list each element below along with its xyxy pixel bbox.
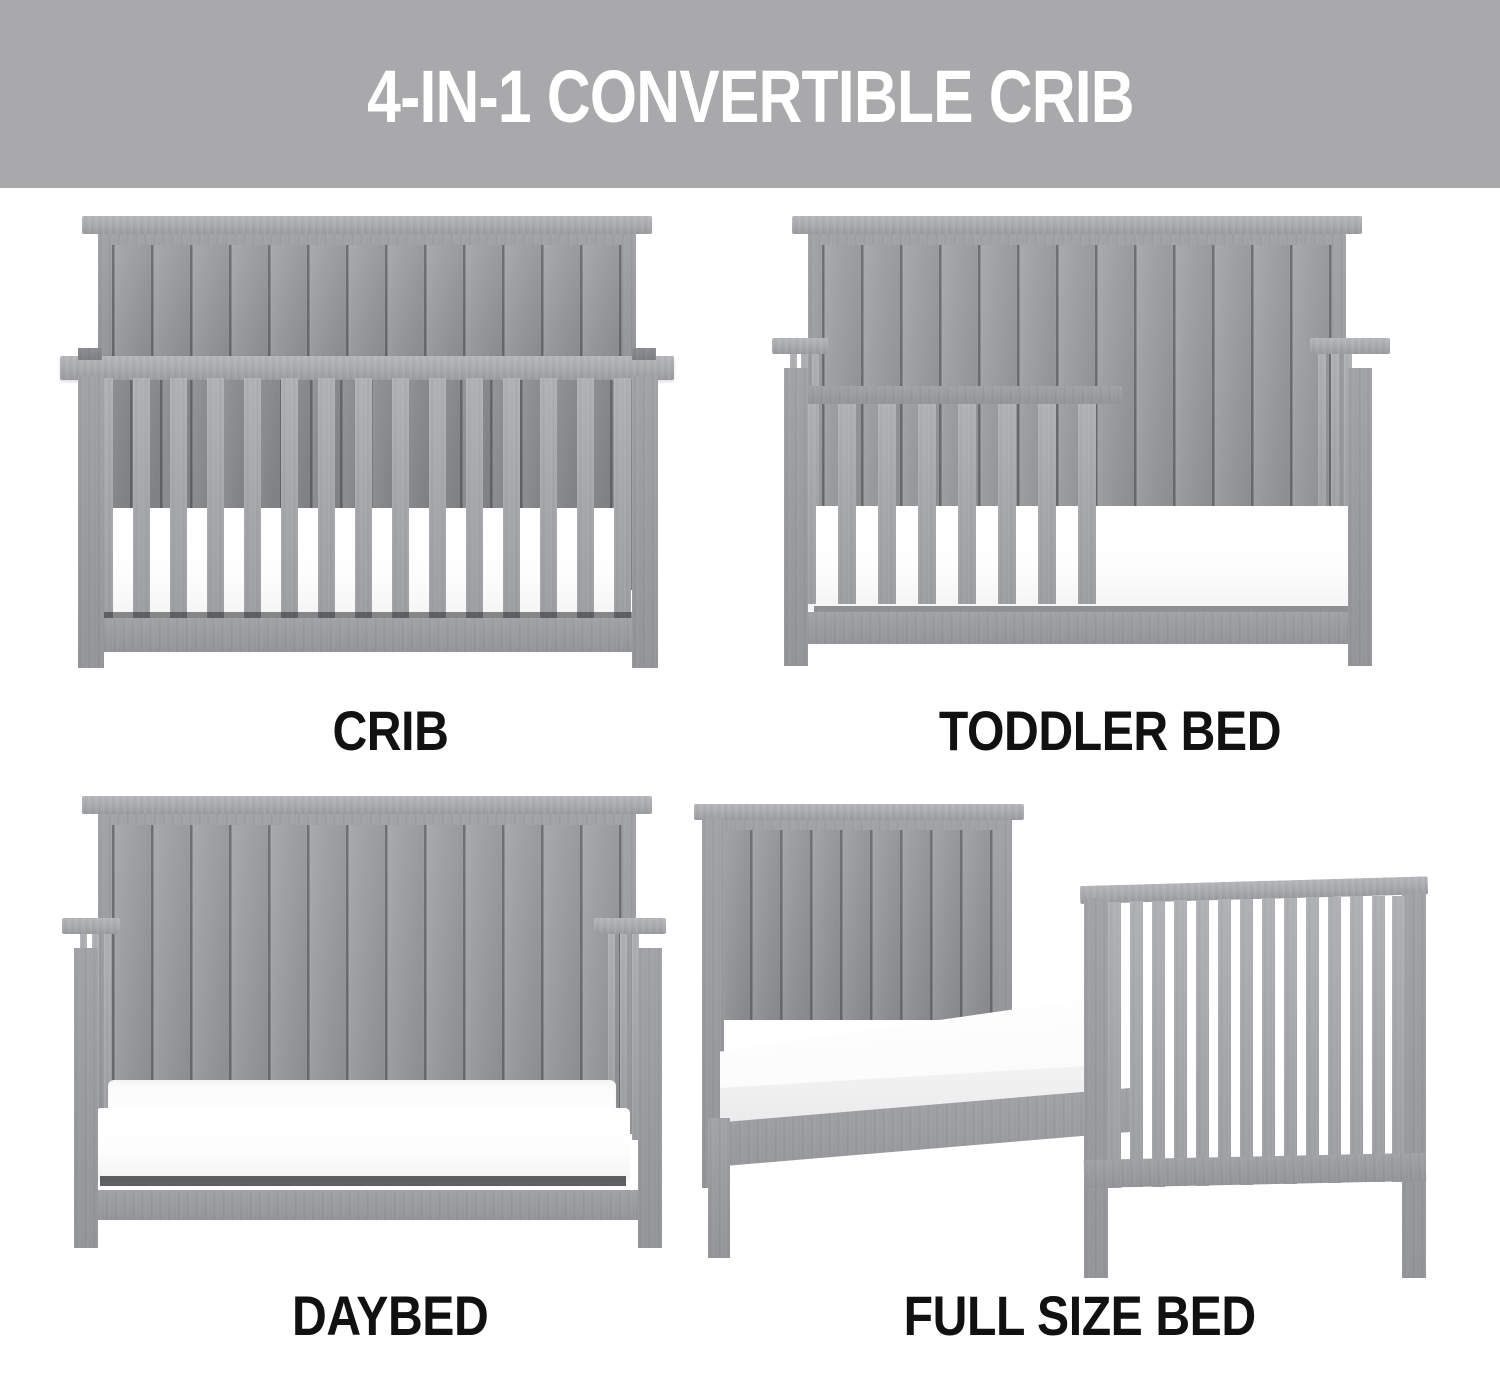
config-card-full-size-bed[interactable]: FULL SIZE BED — [680, 788, 1480, 1368]
caption-full-size-bed: FULL SIZE BED — [680, 1283, 1480, 1348]
toddler-left-arm-rail — [772, 338, 828, 354]
fullbed-footboard-slats — [1108, 896, 1406, 1188]
daybed-left-arm-rail — [62, 918, 120, 934]
fullbed-headboard-cap-rail — [694, 804, 1024, 820]
fullbed-footboard-post-left — [1084, 898, 1108, 1278]
toddler-guard-rail-slats — [798, 404, 1120, 604]
crib-top-cap-rail — [82, 216, 652, 234]
toddler-leg-right — [1348, 368, 1372, 666]
caption-toddler-bed: TODDLER BED — [770, 698, 1450, 763]
daybed-right-arm-rail — [594, 918, 666, 934]
crib-leg-left — [78, 376, 104, 668]
toddler-base-rail — [796, 612, 1360, 644]
full-size-bed-illustration — [680, 788, 1480, 1368]
fullbed-headboard-panel — [720, 830, 998, 1020]
daybed-top-cap-rail — [82, 796, 652, 814]
daybed-mattress — [96, 1108, 630, 1180]
config-card-toddler-bed[interactable]: TODDLER BED — [770, 208, 1450, 788]
page-title: 4-IN-1 CONVERTIBLE CRIB — [367, 60, 1134, 134]
daybed-under-mattress-shadow — [100, 1176, 626, 1186]
toddler-leg-left — [784, 368, 808, 666]
crib-right-bracket — [632, 348, 656, 360]
caption-crib: CRIB — [60, 698, 720, 763]
crib-front-slats — [96, 378, 638, 620]
configuration-grid: CRIB — [0, 188, 1500, 1379]
crib-front-top-rail — [60, 356, 674, 380]
daybed-leg-right — [638, 948, 662, 1248]
toddler-right-arm-rail — [1310, 338, 1390, 354]
daybed-illustration — [60, 788, 720, 1368]
toddler-top-cap-rail — [792, 216, 1362, 234]
crib-base-rail — [94, 618, 642, 652]
header-banner: 4-IN-1 CONVERTIBLE CRIB — [0, 0, 1500, 188]
toddler-guard-rail-top — [792, 386, 1122, 404]
config-card-crib[interactable]: CRIB — [60, 208, 720, 788]
fullbed-leg-front-left — [708, 1118, 730, 1258]
crib-left-bracket — [78, 348, 102, 360]
daybed-base-rail — [86, 1190, 650, 1220]
caption-daybed: DAYBED — [60, 1283, 720, 1348]
crib-leg-right — [632, 376, 658, 668]
config-card-daybed[interactable]: DAYBED — [60, 788, 720, 1368]
daybed-leg-left — [74, 948, 98, 1248]
crib-headboard-panel — [112, 245, 622, 356]
